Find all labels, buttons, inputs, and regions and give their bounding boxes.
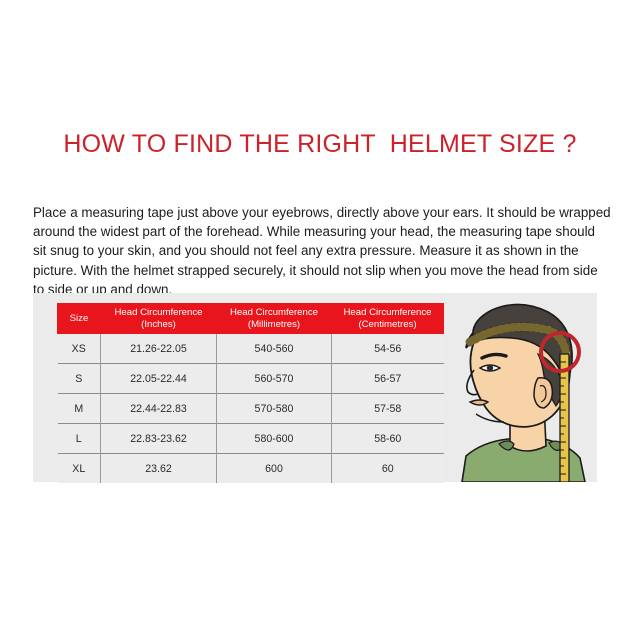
size-chart-band: Size Head Circumference (Inches) Head Ci…: [33, 293, 597, 482]
table-row: S 22.05-22.44 560-570 56-57: [58, 364, 444, 394]
cell-inches: 21.26-22.05: [101, 334, 217, 364]
table-row: M 22.44-22.83 570-580 57-58: [58, 394, 444, 424]
cell-centimetres: 58-60: [332, 424, 444, 454]
table-body: XS 21.26-22.05 540-560 54-56 S 22.05-22.…: [58, 334, 444, 483]
cell-size: S: [58, 364, 101, 394]
table-row: L 22.83-23.62 580-600 58-60: [58, 424, 444, 454]
table-header: Size Head Circumference (Inches) Head Ci…: [58, 303, 444, 334]
table-row: XS 21.26-22.05 540-560 54-56: [58, 334, 444, 364]
column-header-size: Size: [58, 303, 101, 334]
cell-size: L: [58, 424, 101, 454]
cell-centimetres: 57-58: [332, 394, 444, 424]
column-header-centimetres: Head Circumference (Centimetres): [332, 303, 444, 334]
cell-inches: 22.05-22.44: [101, 364, 217, 394]
cell-millimetres: 540-560: [217, 334, 332, 364]
head-measurement-drawing: [452, 296, 597, 482]
column-header-millimetres-line1: Head Circumference: [217, 307, 331, 319]
column-header-millimetres: Head Circumference (Millimetres): [217, 303, 332, 334]
helmet-size-table: Size Head Circumference (Inches) Head Ci…: [57, 303, 444, 483]
ear-shape: [534, 378, 552, 408]
page-title: HOW TO FIND THE RIGHT HELMET SIZE ?: [0, 130, 640, 159]
instructions-paragraph: Place a measuring tape just above your e…: [33, 203, 611, 299]
cell-size: XL: [58, 454, 101, 484]
column-header-inches-line2: (Inches): [101, 319, 216, 331]
helmet-size-guide-page: HOW TO FIND THE RIGHT HELMET SIZE ? Plac…: [0, 0, 640, 640]
cell-inches: 22.83-23.62: [101, 424, 217, 454]
cell-inches: 22.44-22.83: [101, 394, 217, 424]
column-header-centimetres-line2: (Centimetres): [332, 319, 443, 331]
head-measurement-illustration: [452, 296, 597, 482]
cell-size: XS: [58, 334, 101, 364]
cell-millimetres: 570-580: [217, 394, 332, 424]
cell-centimetres: 60: [332, 454, 444, 484]
eye-pupil: [487, 365, 493, 371]
column-header-size-line1: Size: [58, 313, 100, 325]
cell-inches: 23.62: [101, 454, 217, 484]
column-header-centimetres-line1: Head Circumference: [332, 307, 443, 319]
cell-millimetres: 600: [217, 454, 332, 484]
column-header-millimetres-line2: (Millimetres): [217, 319, 331, 331]
table-row: XL 23.62 600 60: [58, 454, 444, 484]
cell-centimetres: 54-56: [332, 334, 444, 364]
table-header-row: Size Head Circumference (Inches) Head Ci…: [58, 303, 444, 334]
cell-size: M: [58, 394, 101, 424]
cell-centimetres: 56-57: [332, 364, 444, 394]
cell-millimetres: 580-600: [217, 424, 332, 454]
cell-millimetres: 560-570: [217, 364, 332, 394]
column-header-inches: Head Circumference (Inches): [101, 303, 217, 334]
column-header-inches-line1: Head Circumference: [101, 307, 216, 319]
